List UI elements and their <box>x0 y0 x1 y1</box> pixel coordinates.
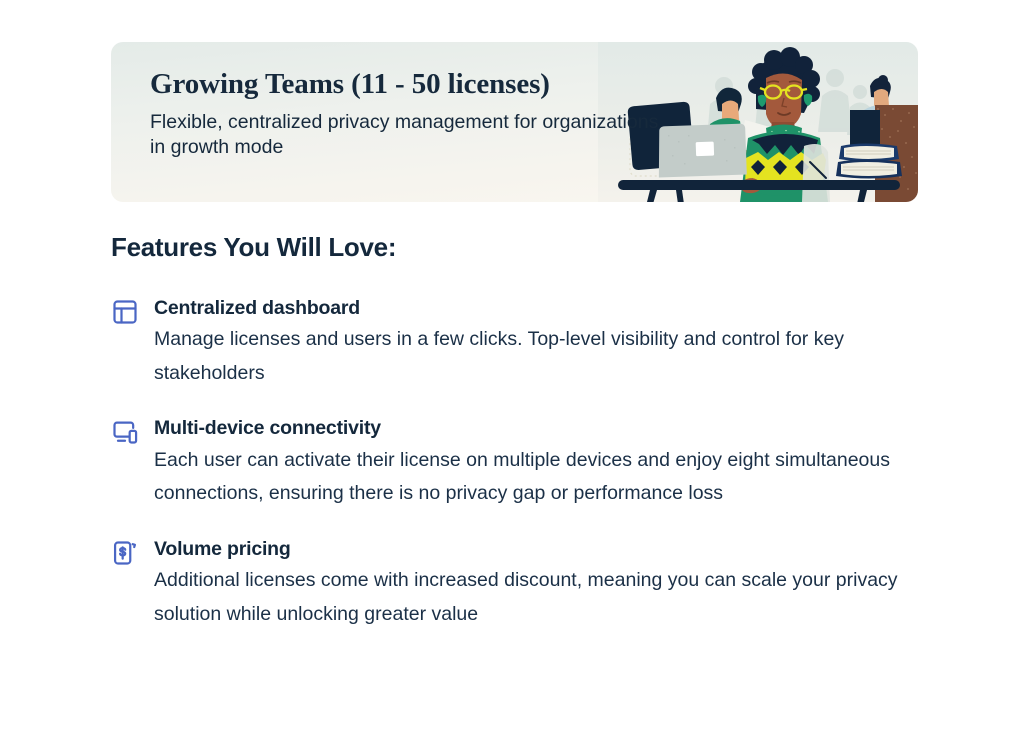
feature-body: Each user can activate their license on … <box>154 444 921 511</box>
illustration-laptop <box>657 123 747 177</box>
plan-banner: Growing Teams (11 - 50 licenses) Flexibl… <box>111 42 918 202</box>
feature-list: Centralized dashboard Manage licenses an… <box>111 296 921 631</box>
banner-text-block: Growing Teams (11 - 50 licenses) Flexibl… <box>150 69 670 159</box>
feature-title: Centralized dashboard <box>154 296 921 321</box>
multi-device-icon <box>111 418 139 446</box>
feature-title: Multi-device connectivity <box>154 416 921 441</box>
feature-body: Manage licenses and users in a few click… <box>154 323 921 390</box>
feature-body: Additional licenses come with increased … <box>154 564 921 631</box>
price-tag-dollar-icon <box>111 539 139 567</box>
feature-item-multi-device-connectivity: Multi-device connectivity Each user can … <box>111 416 921 510</box>
feature-title: Volume pricing <box>154 537 921 562</box>
banner-subtitle: Flexible, centralized privacy management… <box>150 110 670 160</box>
banner-title: Growing Teams (11 - 50 licenses) <box>150 69 670 101</box>
features-heading: Features You Will Love: <box>111 232 396 263</box>
feature-item-centralized-dashboard: Centralized dashboard Manage licenses an… <box>111 296 921 390</box>
dashboard-layout-icon <box>111 298 139 326</box>
feature-item-volume-pricing: Volume pricing Additional licenses come … <box>111 537 921 631</box>
